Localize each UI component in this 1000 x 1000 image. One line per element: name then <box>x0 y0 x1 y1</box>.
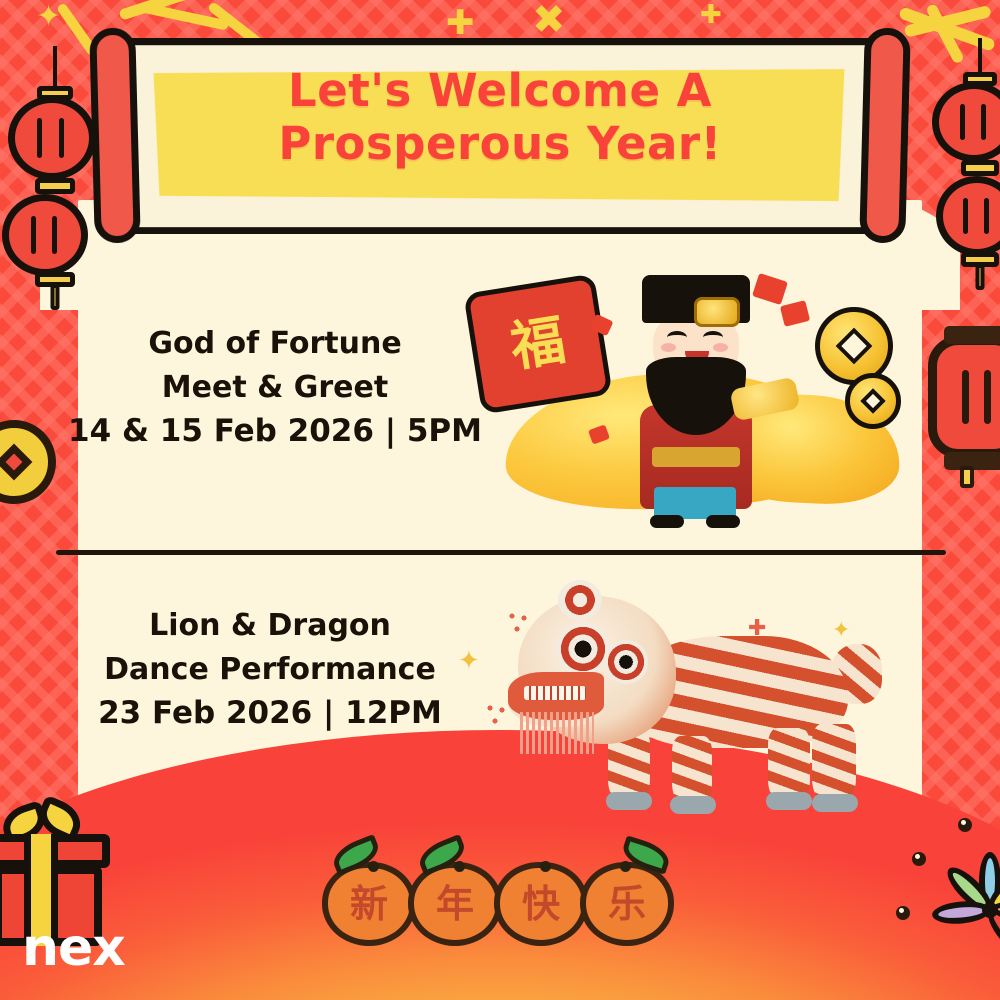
lantern-tassel <box>976 264 985 290</box>
lion-leg <box>768 728 810 802</box>
sparkle-icon: ✦ <box>36 2 61 32</box>
section-divider <box>56 550 946 555</box>
god-hat <box>642 275 750 323</box>
fu-character: 福 <box>507 313 569 375</box>
page-title: Let's Welcome A Prosperous Year! <box>70 64 930 170</box>
firework-dot <box>896 906 910 920</box>
orange-character: 年 <box>436 885 474 923</box>
headline-line-2: Prosperous Year! <box>70 117 930 170</box>
event-2-title-line-1: Lion & Dragon <box>98 604 442 648</box>
red-envelope <box>780 300 810 327</box>
coin-hole <box>836 328 873 365</box>
sparkle-icon: ✦ <box>458 648 480 674</box>
god-of-fortune-illustration: 福 <box>470 255 900 535</box>
god-of-fortune-figure <box>620 265 770 527</box>
orange-stem <box>540 861 551 872</box>
sparkle-icon: ✚ <box>700 2 722 28</box>
lion-leg <box>812 724 856 802</box>
event-1-text: God of Fortune Meet & Greet 14 & 15 Feb … <box>68 322 482 454</box>
cny-poster: ✦ ✚ ✖ ✚ ✖ <box>0 0 1000 1000</box>
mandarin-orange: 新 <box>322 862 416 946</box>
lion-eye <box>556 622 610 676</box>
round-lantern-cap <box>944 326 1000 344</box>
lantern-cap <box>961 160 999 176</box>
round-lantern-right <box>928 336 1000 458</box>
event-2-datetime: 23 Feb 2026 | 12PM <box>98 691 442 736</box>
lion-horn <box>558 580 602 620</box>
firework-burst-bottom-right <box>930 850 1000 970</box>
orange-character: 快 <box>522 885 560 923</box>
lion-paw <box>606 792 652 810</box>
scroll-banner: Let's Welcome A Prosperous Year! <box>70 28 930 243</box>
orange-stem <box>620 861 631 872</box>
mandarin-orange: 乐 <box>580 862 674 946</box>
lion-beard <box>520 712 594 754</box>
event-god-of-fortune: God of Fortune Meet & Greet 14 & 15 Feb … <box>90 318 460 458</box>
god-shoe <box>706 515 740 528</box>
orange-stem <box>454 861 465 872</box>
god-sash <box>652 447 740 467</box>
event-lion-dance: Lion & Dragon Dance Performance 23 Feb 2… <box>80 600 460 740</box>
firework-core <box>982 902 998 918</box>
orange-character: 新 <box>350 885 388 923</box>
gold-coin <box>845 373 901 429</box>
event-1-title-line-2: Meet & Greet <box>68 366 482 410</box>
orange-character: 乐 <box>608 885 646 923</box>
mandarin-orange: 年 <box>408 862 502 946</box>
god-cheek <box>713 343 728 352</box>
mandarin-orange-row: 新 年 快 乐 <box>322 838 682 946</box>
lion-leg <box>672 736 712 804</box>
lion-dance-illustration <box>500 578 890 828</box>
headline-line-1: Let's Welcome A <box>70 64 930 117</box>
lantern-bulb <box>932 82 1000 162</box>
event-2-text: Lion & Dragon Dance Performance 23 Feb 2… <box>98 604 442 736</box>
lion-eye <box>604 640 648 684</box>
event-1-datetime: 14 & 15 Feb 2026 | 5PM <box>68 409 482 454</box>
lantern-pair-right <box>930 38 1000 278</box>
fu-character-card: 福 <box>463 273 612 414</box>
orange-stem <box>368 861 379 872</box>
mandarin-orange: 快 <box>494 862 588 946</box>
lion-paw <box>766 792 812 810</box>
god-eye <box>667 331 687 344</box>
lantern-bulb <box>936 176 1000 256</box>
coin-hole <box>0 444 32 481</box>
nex-logo: nex <box>22 918 125 978</box>
coin-hole <box>860 388 885 413</box>
firework-dot <box>958 818 972 832</box>
god-shoe <box>650 515 684 528</box>
event-1-title-line-1: God of Fortune <box>68 322 482 366</box>
gift-box-bottom-left <box>0 806 114 936</box>
god-hat-ornament <box>694 297 740 327</box>
lion-paw <box>670 796 716 814</box>
lantern-cap <box>35 178 75 194</box>
lion-paw <box>812 794 858 812</box>
lantern-tassel <box>51 284 60 310</box>
god-cheek <box>661 343 676 352</box>
round-lantern-tassel <box>960 466 974 488</box>
lion-teeth <box>524 686 586 700</box>
event-2-title-line-2: Dance Performance <box>98 648 442 692</box>
firework-dot <box>912 852 926 866</box>
